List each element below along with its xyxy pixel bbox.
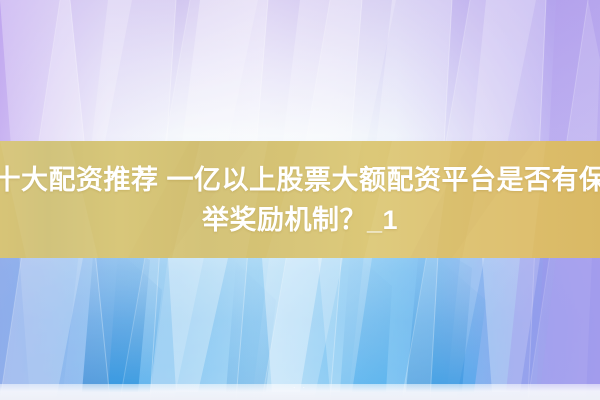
banner-title-line-2: 举奖励机制？_1: [202, 200, 398, 240]
promo-banner-image: 十大配资推荐 一亿以上股票大额配资平台是否有保 举奖励机制？_1 · ·: [0, 0, 600, 400]
watermark-text: · ·: [293, 382, 308, 392]
banner-title: 十大配资推荐 一亿以上股票大额配资平台是否有保 举奖励机制？_1: [0, 141, 600, 258]
banner-title-line-1: 十大配资推荐 一亿以上股票大额配资平台是否有保: [0, 160, 600, 200]
title-band: 十大配资推荐 一亿以上股票大额配资平台是否有保 举奖励机制？_1: [0, 141, 600, 258]
